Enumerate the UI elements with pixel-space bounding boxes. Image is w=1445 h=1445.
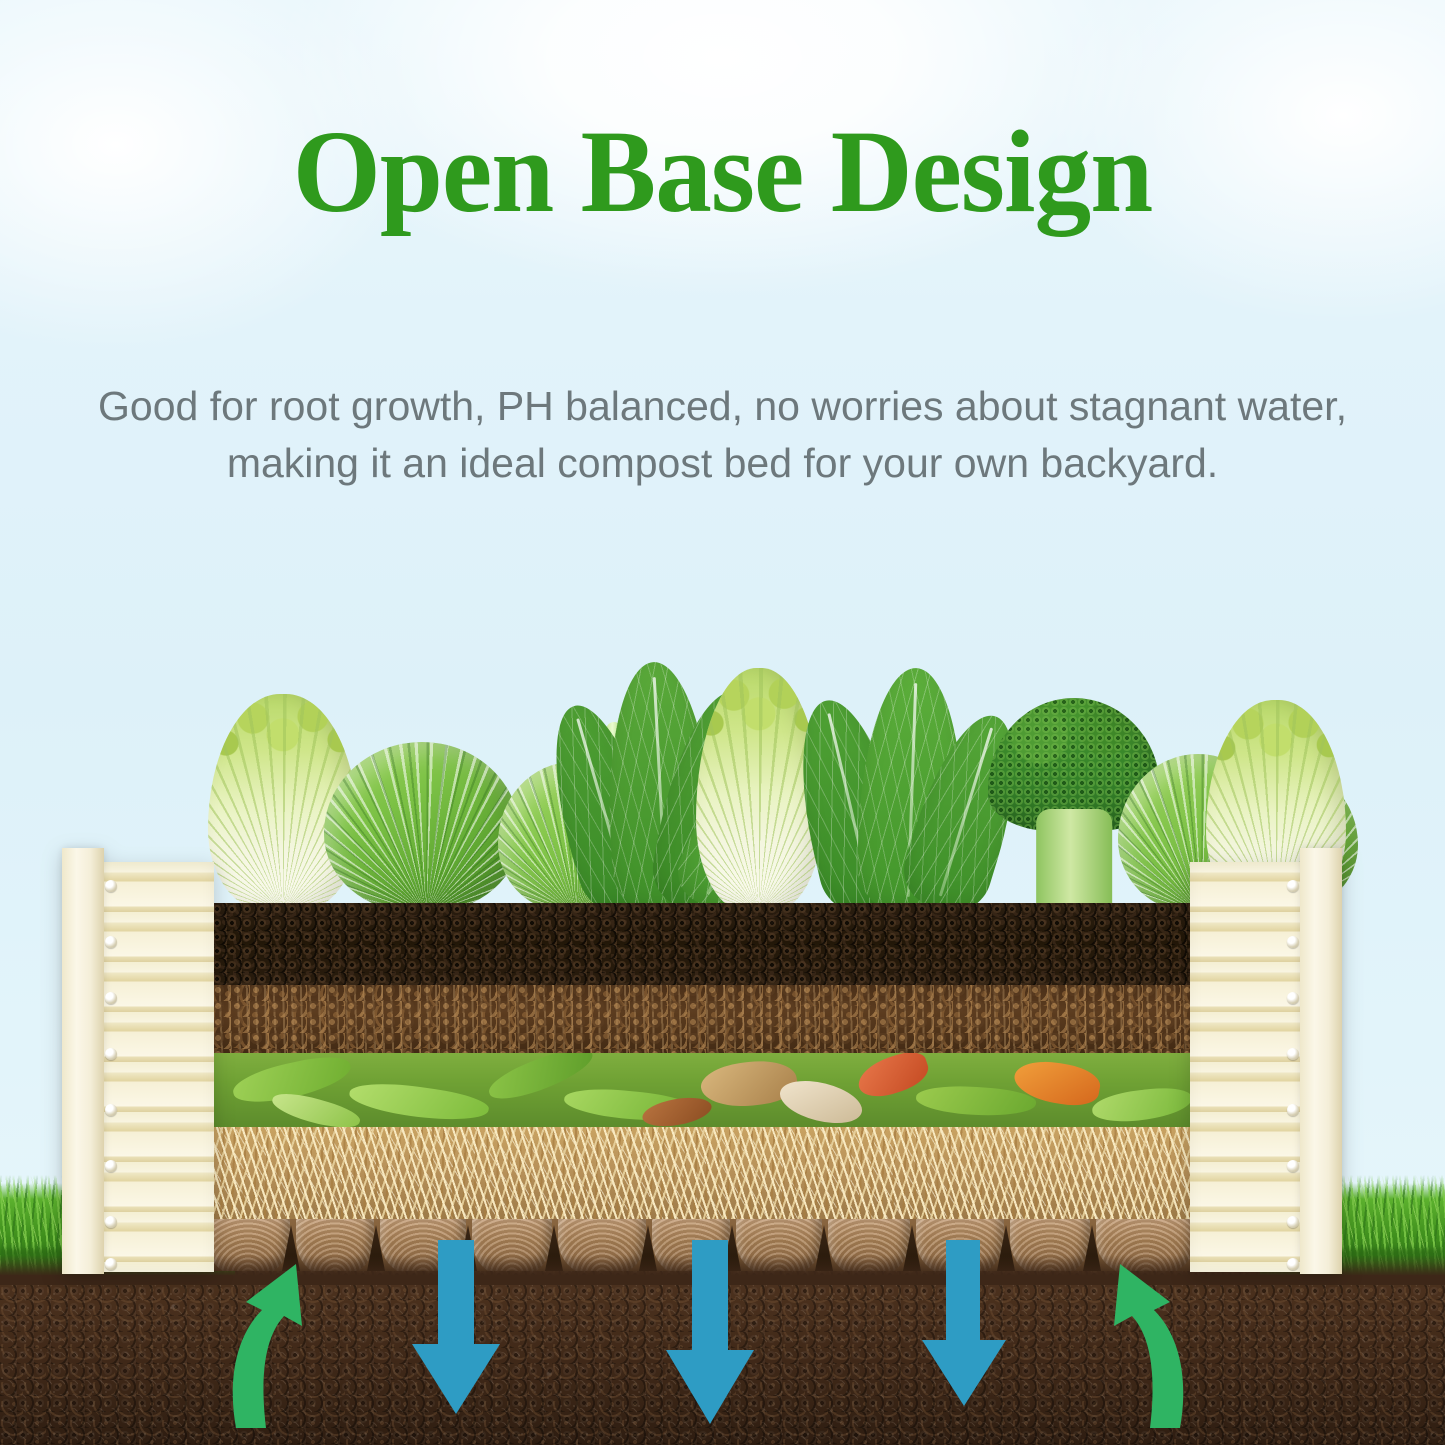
vegetable-bok-choy	[798, 622, 1018, 912]
product-illustration	[0, 0, 1445, 1445]
arrow-down-2	[662, 1240, 758, 1426]
right-panel	[1190, 862, 1342, 1272]
arrow-up-left	[218, 1258, 338, 1430]
compost-cross-section	[212, 903, 1190, 1271]
arrow-down-1	[408, 1240, 504, 1416]
arrow-up-right	[1078, 1258, 1198, 1430]
vegetable-green-cabbage	[324, 742, 520, 912]
scrap-pieces	[212, 1053, 1190, 1127]
cabbage-ribs-dark	[324, 742, 520, 912]
arrow-down-3	[918, 1240, 1010, 1408]
broccoli-stem	[1036, 809, 1112, 912]
left-panel-screws	[96, 862, 214, 1272]
marketing-image: Open Base Design Good for root growth, P…	[0, 0, 1445, 1445]
layer-compost	[212, 985, 1190, 1053]
right-panel-screws	[1190, 862, 1308, 1272]
layer-kitchen-scraps	[212, 1053, 1190, 1127]
left-panel	[62, 862, 214, 1272]
layer-straw	[212, 1127, 1190, 1219]
layer-topsoil	[212, 903, 1190, 985]
airflow-drainage-arrows	[0, 1240, 1445, 1445]
vegetable-row	[198, 600, 1358, 912]
